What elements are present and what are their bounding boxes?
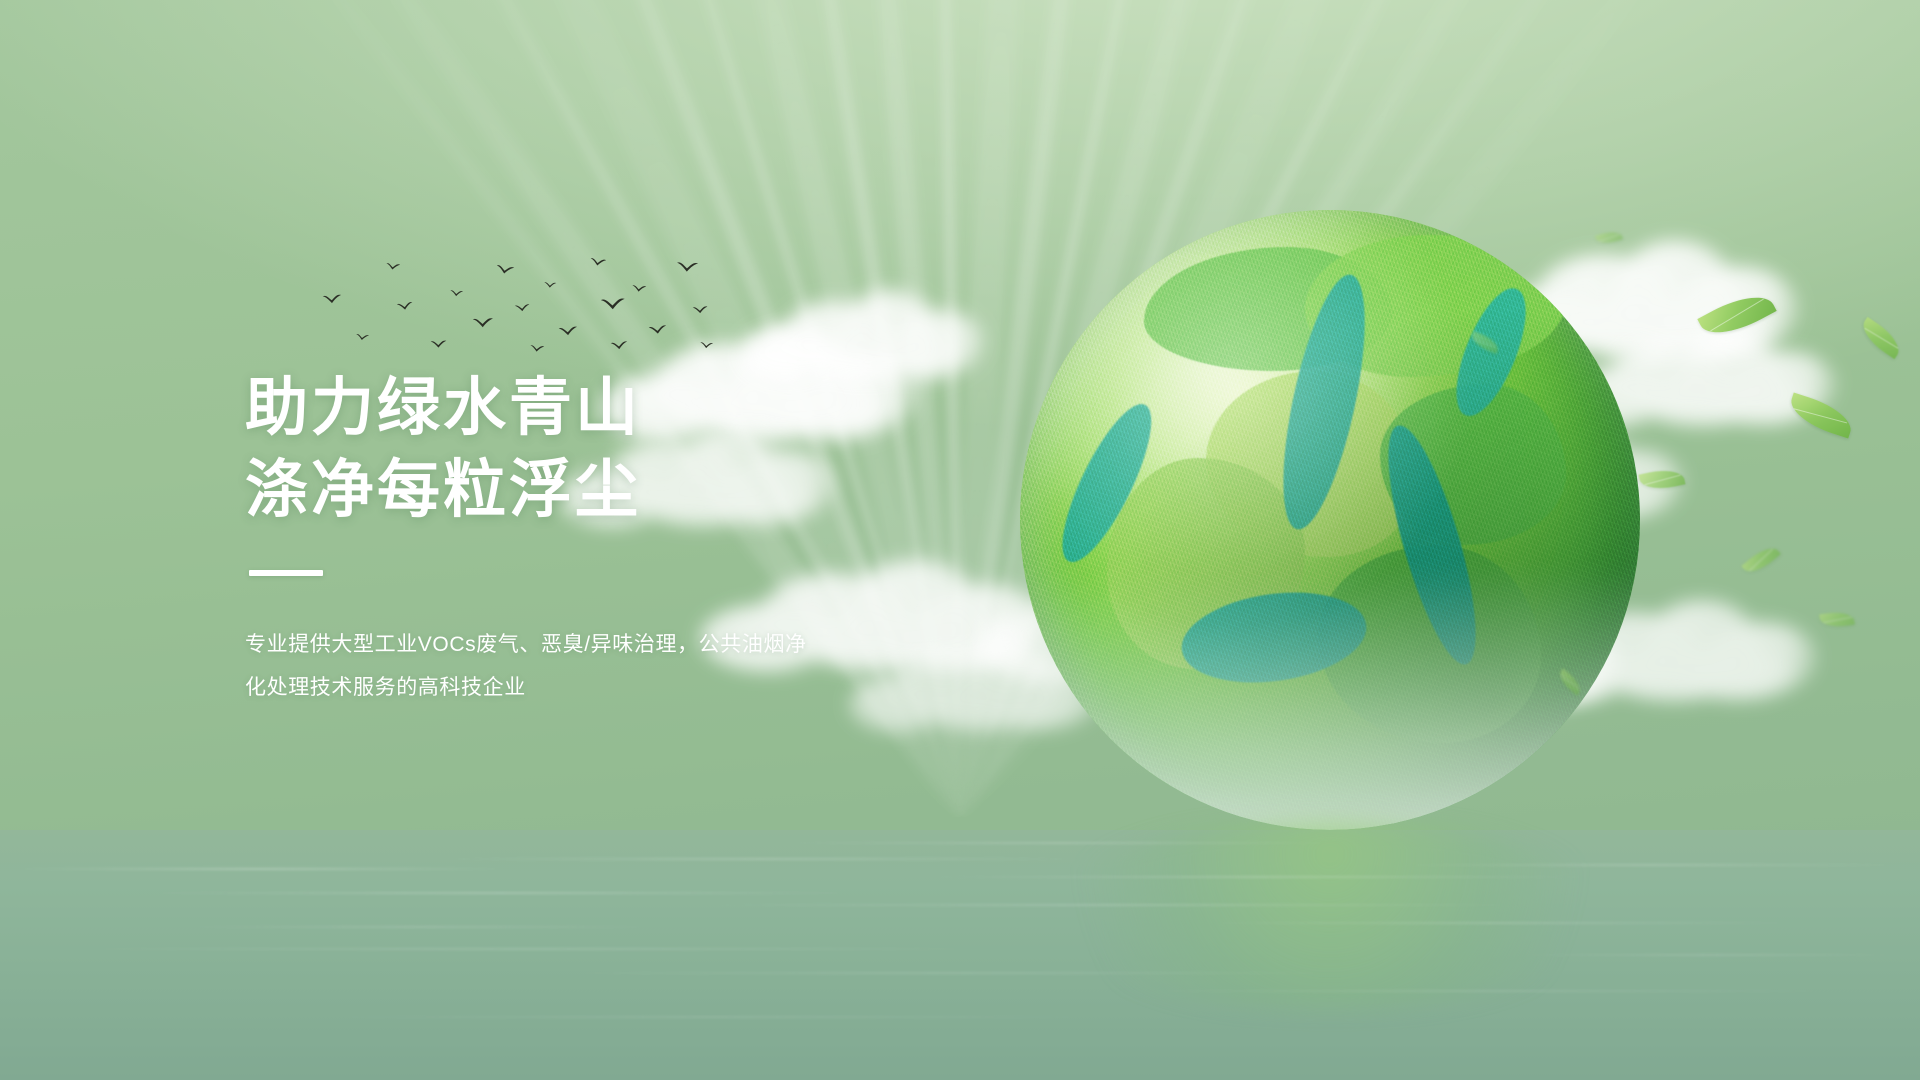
water-ripple [260, 1016, 1160, 1018]
bird-icon [600, 295, 627, 311]
water-ripple [900, 876, 1620, 878]
globe-reflection [1040, 820, 1620, 1010]
cloud [1300, 600, 1600, 710]
bird-icon [395, 297, 413, 309]
leaf-icon [1595, 229, 1623, 247]
leaf-icon [1469, 331, 1502, 354]
water-ripple [760, 842, 1360, 844]
grass-textured-earth-globe [1020, 210, 1640, 830]
water-ripple [660, 904, 1560, 906]
leaf-icon [1555, 668, 1584, 695]
bird-icon [495, 261, 515, 274]
flying-birds-flock [300, 240, 720, 350]
ray [955, 0, 1501, 822]
grass-texture-overlay [1020, 210, 1640, 830]
water-ripple [40, 948, 1020, 950]
cloud [1520, 600, 1800, 700]
ray [943, 0, 1437, 827]
water-ripple [420, 858, 1100, 860]
ray [951, 0, 1578, 826]
bird-icon [322, 291, 343, 303]
title-divider [249, 570, 323, 576]
bird-icon [530, 339, 546, 349]
headline-line-1: 助力绿水青山 [245, 368, 1005, 450]
subtitle-line-1: 专业提供大型工业VOCs废气、恶臭/异味治理，公共油烟净 [245, 623, 905, 666]
cloud [1560, 330, 1820, 425]
cloud [1480, 240, 1780, 360]
water-ripple [1500, 954, 1920, 956]
globe-shading [1020, 210, 1640, 830]
bird-icon [647, 321, 667, 334]
ray [953, 0, 1643, 825]
water-ripple [160, 926, 680, 928]
bird-icon [589, 253, 607, 264]
water-surface-with-reflection [0, 830, 1920, 1080]
leaf-icon [1856, 317, 1905, 359]
cloud [740, 290, 970, 380]
leaf-icon [1741, 542, 1780, 579]
bird-icon [356, 327, 371, 336]
bird-icon [692, 301, 709, 311]
bird-icon [610, 337, 629, 349]
subtitle-line-2: 化处理技术服务的高科技企业 [245, 666, 905, 709]
banner-hero: 助力绿水青山 涤净每粒浮尘 专业提供大型工业VOCs废气、恶臭/异味治理，公共油… [0, 0, 1920, 1080]
cloud [1430, 430, 1670, 520]
water-ripple [120, 892, 880, 894]
bird-icon [676, 260, 699, 273]
bird-icon [430, 336, 447, 346]
leaf-icon [1639, 466, 1686, 494]
bird-icon [700, 336, 715, 345]
water-ripple [0, 868, 520, 870]
bird-icon [386, 257, 402, 267]
cloud [1120, 620, 1440, 730]
leaf-icon [1697, 284, 1776, 345]
water-ripple [1180, 922, 1820, 924]
bird-icon [558, 323, 579, 336]
water-ripple [1380, 864, 1920, 866]
hero-copy: 助力绿水青山 涤净每粒浮尘 专业提供大型工业VOCs废气、恶臭/异味治理，公共油… [245, 368, 1005, 709]
leaf-icon [1819, 610, 1855, 630]
hero-subtitle: 专业提供大型工业VOCs废气、恶臭/异味治理，公共油烟净 化处理技术服务的高科技… [245, 623, 905, 709]
bird-icon [632, 279, 648, 289]
water-ripple [520, 972, 1380, 974]
leaf-icon [1785, 392, 1856, 438]
bird-icon [514, 299, 531, 309]
ray [953, 0, 1350, 822]
bird-icon [472, 316, 494, 329]
bird-icon [450, 284, 465, 293]
water-ripple [1100, 990, 1880, 992]
globe-mist [1020, 570, 1640, 830]
bird-icon [544, 276, 557, 284]
ray [948, 0, 1714, 829]
page-title: 助力绿水青山 涤净每粒浮尘 [245, 368, 1005, 532]
headline-line-2: 涤净每粒浮尘 [245, 450, 1005, 532]
cloud [980, 560, 1280, 680]
